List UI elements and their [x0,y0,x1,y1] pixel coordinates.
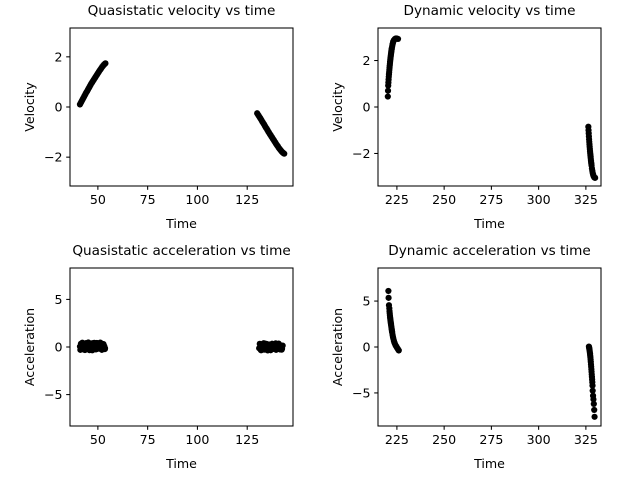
scatter-point [280,342,286,348]
y-tick-label: 5 [54,292,62,307]
y-tick-label: 0 [362,100,370,115]
scatter-point [591,401,597,407]
y-axis-label: Acceleration [22,308,37,386]
scatter-point [385,295,391,301]
y-axis-label: Velocity [330,82,345,132]
x-tick-label: 50 [90,192,106,207]
scatter-point [102,345,108,351]
x-tick-label: 300 [527,432,551,447]
y-tick-label: 5 [362,294,370,309]
x-tick-label: 100 [185,432,209,447]
y-tick-label: −5 [352,385,371,400]
y-tick-label: 2 [54,49,62,64]
y-axis-label: Velocity [22,82,37,132]
x-tick-label: 250 [432,192,456,207]
y-tick-label: 2 [362,53,370,68]
y-tick-label: −5 [44,387,63,402]
subplot-dynamic-acceleration: Dynamic acceleration vs time225250275300… [308,228,621,486]
y-tick-label: 0 [54,340,62,355]
y-tick-label: 0 [54,100,62,115]
subplot-quasistatic-velocity: Quasistatic velocity vs time507510012520… [0,0,313,246]
scatter-point [385,93,391,99]
scatter-point [385,288,391,294]
x-tick-label: 225 [385,432,409,447]
subplot-title: Quasistatic acceleration vs time [72,243,290,259]
scatter-point [396,347,402,353]
x-tick-label: 100 [185,192,209,207]
axes-frame [378,28,601,186]
x-tick-label: 275 [479,432,503,447]
x-axis-label: Time [473,456,505,471]
subplot-quasistatic-acceleration: Quasistatic acceleration vs time50751001… [0,228,313,486]
scatter-series [77,339,108,353]
x-tick-label: 250 [432,432,456,447]
matplotlib-figure: Quasistatic velocity vs time507510012520… [0,0,640,480]
y-tick-label: 0 [362,340,370,355]
x-tick-label: 325 [574,432,598,447]
scatter-series [256,340,286,353]
x-axis-label: Time [165,456,197,471]
subplot-title: Dynamic velocity vs time [404,3,576,19]
scatter-point [591,407,597,413]
scatter-point [102,60,108,66]
subplot-title: Quasistatic velocity vs time [88,3,276,19]
subplot-dynamic-velocity: Dynamic velocity vs time2252502753003252… [308,0,621,246]
scatter-point [591,414,597,420]
scatter-point [281,151,287,157]
x-tick-label: 275 [479,192,503,207]
x-tick-label: 50 [90,432,106,447]
x-tick-label: 125 [235,432,259,447]
y-tick-label: −2 [44,150,63,165]
axes-frame [70,28,293,186]
scatter-point [592,175,598,181]
scatter-point [86,347,92,353]
axes-frame [378,268,601,426]
x-tick-label: 300 [527,192,551,207]
y-axis-label: Acceleration [330,308,345,386]
x-tick-label: 75 [140,192,156,207]
x-tick-label: 125 [235,192,259,207]
x-tick-label: 325 [574,192,598,207]
x-tick-label: 75 [140,432,156,447]
subplot-title: Dynamic acceleration vs time [388,243,591,259]
y-tick-label: −2 [352,146,371,161]
x-tick-label: 225 [385,192,409,207]
scatter-point [395,36,401,42]
